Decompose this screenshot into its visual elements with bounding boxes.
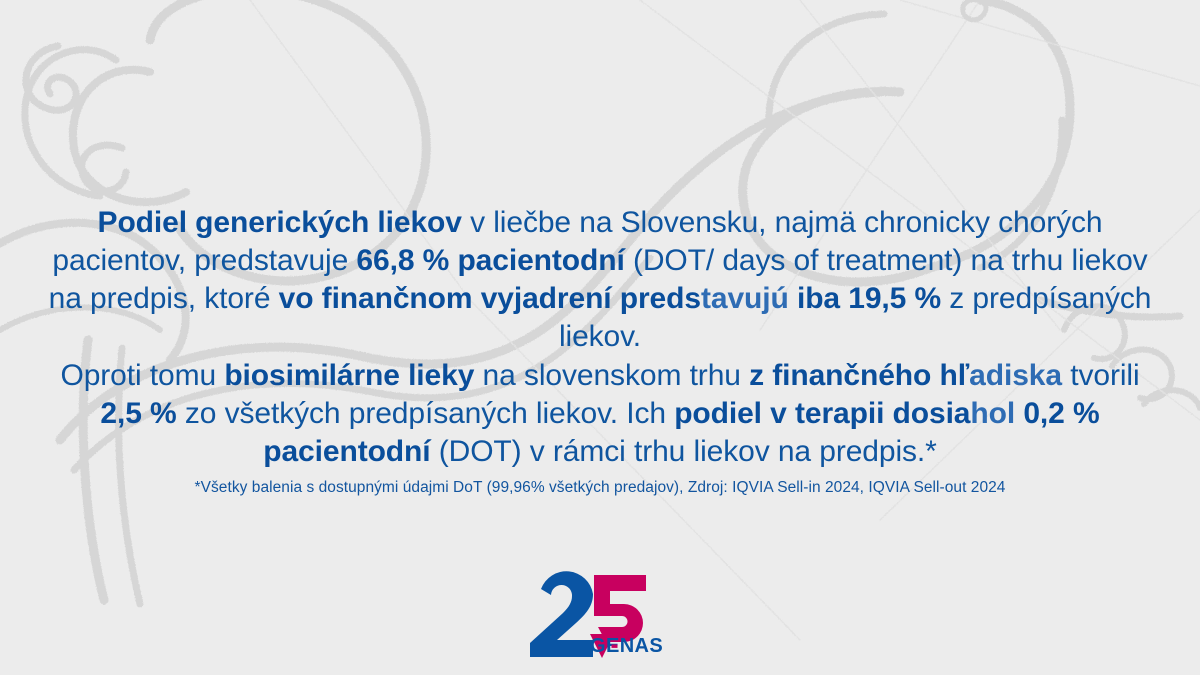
- stat-dot-share: 66,8 % pacientodní: [356, 244, 624, 277]
- stat-financial-share: iba 19,5 %: [797, 282, 941, 315]
- financial-phrase-accent: tavujú: [701, 282, 789, 315]
- therapy-share-phrase-accent: hol: [970, 397, 1015, 430]
- financial-view-phrase: z finančného hľ: [749, 359, 969, 392]
- financial-view-phrase-accent: adiska: [969, 359, 1062, 392]
- logo-wordmark: GENAS: [590, 635, 663, 657]
- stat-biosimilar-financial: 2,5 %: [100, 397, 176, 430]
- copy-text-7: zo všetkých predpísaných liekov. Ich: [177, 397, 675, 430]
- therapy-share-phrase: podiel v terapii dosia: [674, 397, 970, 430]
- biosimilar-phrase: biosimilárne lieky: [224, 359, 474, 392]
- main-copy: Podiel generických liekov v liečbe na Sl…: [0, 204, 1200, 471]
- paragraph-generics: Podiel generických liekov v liečbe na Sl…: [48, 204, 1152, 356]
- paragraph-biosimilars: Oproti tomu biosimilárne lieky na sloven…: [48, 357, 1152, 471]
- copy-text-4: Oproti tomu: [60, 359, 224, 392]
- copy-text-5: na slovenskom trhu: [474, 359, 749, 392]
- financial-phrase: vo finančnom vyjadrení preds: [279, 282, 701, 315]
- logo-accent-dot: [612, 645, 618, 648]
- copy-text-8: (DOT) v rámci trhu liekov na predpis.*: [431, 435, 937, 468]
- footnote-source: *Všetky balenia s dostupnými údajmi DoT …: [0, 478, 1200, 498]
- copy-text-6: tvorili: [1062, 359, 1140, 392]
- genas-25-logo: GENAS: [528, 560, 678, 660]
- infographic-slide: Podiel generických liekov v liečbe na Sl…: [0, 0, 1200, 675]
- logo-digit-2: [530, 571, 593, 657]
- lead-phrase: Podiel generických liekov: [98, 206, 462, 239]
- copy-space-1: [789, 282, 797, 315]
- svg-text:GENAS: GENAS: [590, 635, 663, 657]
